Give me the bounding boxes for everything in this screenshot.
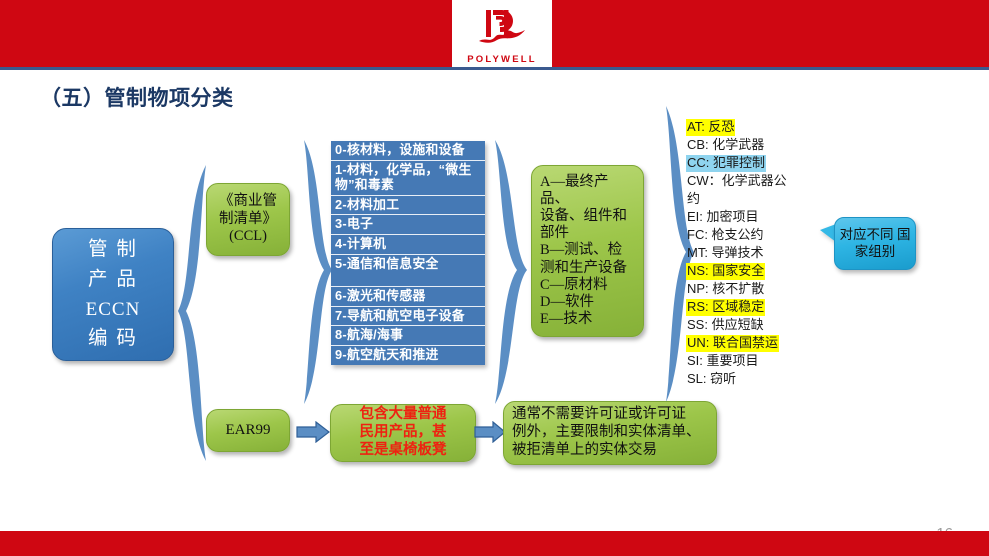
brand-wordmark: POLYWELL <box>467 54 537 65</box>
code-rs[interactable]: RS: 区域稳定 <box>686 299 765 316</box>
code-row: UN: 联合国禁运 <box>686 334 802 352</box>
eccn-main-box[interactable]: 管 制 产 品 ECCN 编 码 <box>52 228 174 361</box>
code-row: CC: 犯罪控制 <box>686 154 802 172</box>
code-np[interactable]: NP: 核不扩散 <box>686 281 765 298</box>
group-line-1: A—最终产品、 <box>540 174 635 208</box>
code-ei[interactable]: EI: 加密项目 <box>686 209 760 226</box>
code-row: AT: 反恐 <box>686 118 802 136</box>
ear99-box[interactable]: EAR99 <box>206 409 290 452</box>
group-line-6: C—原材料 <box>540 277 635 294</box>
note-line-3: 被拒清单上的实体交易 <box>512 442 657 460</box>
note-line-2: 例外，主要限制和实体清单、 <box>512 424 701 442</box>
group-line-2: 设备、组件和 <box>540 208 635 225</box>
arrow-right-icon-ear99 <box>296 421 330 443</box>
ear99-note-box[interactable]: 通常不需要许可证或许可证 例外，主要限制和实体清单、 被拒清单上的实体交易 <box>503 401 717 465</box>
code-row: CB: 化学武器 <box>686 136 802 154</box>
code-row: SS: 供应短缺 <box>686 316 802 334</box>
eccn-line-1: 管 制 <box>88 238 138 262</box>
ccl-line-2: 制清单》 <box>219 211 277 229</box>
country-group-callout[interactable]: 对应不同 国家组别 <box>834 217 916 270</box>
product-group-box[interactable]: A—最终产品、 设备、组件和 部件 B—测试、检 测和生产设备 C—原材料 D—… <box>531 165 644 337</box>
code-fc[interactable]: FC: 枪支公约 <box>686 227 765 244</box>
code-cc[interactable]: CC: 犯罪控制 <box>686 155 766 172</box>
reason-code-list: AT: 反恐 CB: 化学武器 CC: 犯罪控制 CW：化学武器公 约 EI: … <box>686 118 802 388</box>
code-at[interactable]: AT: 反恐 <box>686 119 735 136</box>
code-si[interactable]: SI: 重要项目 <box>686 353 760 370</box>
code-row: EI: 加密项目 <box>686 208 802 226</box>
brace-connector-ccl <box>292 138 334 406</box>
code-row: FC: 枪支公约 <box>686 226 802 244</box>
group-line-3: 部件 <box>540 225 635 242</box>
note-line-1: 通常不需要许可证或许可证 <box>512 406 686 424</box>
list-item[interactable]: 4-计算机 <box>331 234 485 254</box>
brand-logo: POLYWELL <box>452 0 552 76</box>
code-row: NS: 国家安全 <box>686 262 802 280</box>
ccl-category-list: 0-核材料，设施和设备 1-材料，化学品，“微生物”和毒素 2-材料加工 3-电… <box>331 141 485 365</box>
ccl-line-3: (CCL) <box>229 228 267 246</box>
page-title: （五）管制物项分类 <box>40 82 234 112</box>
list-item[interactable]: 1-材料，化学品，“微生物”和毒素 <box>331 160 485 195</box>
code-un[interactable]: UN: 联合国禁运 <box>686 335 779 352</box>
brace-connector-groups <box>483 138 529 406</box>
ccl-line-1: 《商业管 <box>219 193 277 211</box>
group-line-7: D—软件 <box>540 294 635 311</box>
eccn-line-4: 编 码 <box>88 327 138 351</box>
ear99-detail-line-1: 包含大量普通 <box>360 406 447 424</box>
list-item[interactable]: 2-材料加工 <box>331 195 485 215</box>
code-row: SI: 重要项目 <box>686 352 802 370</box>
code-cb[interactable]: CB: 化学武器 <box>686 137 765 154</box>
code-sl[interactable]: SL: 窃听 <box>686 371 737 388</box>
code-row: MT: 导弹技术 <box>686 244 802 262</box>
slide-canvas: POLYWELL （五）管制物项分类 管 制 产 品 ECCN 编 码 《商业管… <box>0 0 989 556</box>
code-row: RS: 区域稳定 <box>686 298 802 316</box>
eccn-line-2: 产 品 <box>88 268 138 292</box>
ccl-box[interactable]: 《商业管 制清单》 (CCL) <box>206 183 290 256</box>
list-item[interactable]: 0-核材料，设施和设备 <box>331 141 485 160</box>
ear99-detail-box[interactable]: 包含大量普通 民用产品，甚 至是桌椅板凳 <box>330 404 476 462</box>
code-row: 约 <box>686 190 802 208</box>
code-ns[interactable]: NS: 国家安全 <box>686 263 765 280</box>
callout-line-1: 对应不同 <box>840 227 894 242</box>
footer-band <box>0 531 989 556</box>
list-item[interactable]: 5-通信和信息安全 <box>331 254 485 274</box>
list-item[interactable]: 9-航空航天和推进 <box>331 345 485 365</box>
group-line-5: 测和生产设备 <box>540 260 635 277</box>
code-row: NP: 核不扩散 <box>686 280 802 298</box>
code-cw-cont: 约 <box>686 191 701 208</box>
list-item[interactable]: 8-航海/海事 <box>331 325 485 345</box>
code-mt[interactable]: MT: 导弹技术 <box>686 245 765 262</box>
arrow-right-icon-note <box>474 421 506 443</box>
code-row: SL: 窃听 <box>686 370 802 388</box>
code-cw[interactable]: CW：化学武器公 <box>686 173 788 190</box>
ear99-detail-line-2: 民用产品，甚 <box>360 424 447 442</box>
list-item[interactable]: 3-电子 <box>331 214 485 234</box>
header-rule <box>0 67 989 70</box>
ear99-detail-line-3: 至是桌椅板凳 <box>360 442 447 460</box>
polywell-logo-icon <box>474 5 530 53</box>
list-item-spacer <box>331 273 485 286</box>
group-line-8: E—技术 <box>540 311 635 328</box>
list-item[interactable]: 6-激光和传感器 <box>331 286 485 306</box>
code-row: CW：化学武器公 <box>686 172 802 190</box>
group-line-4: B—测试、检 <box>540 242 635 259</box>
ear99-label: EAR99 <box>226 421 271 439</box>
eccn-line-3: ECCN <box>86 298 141 321</box>
list-item[interactable]: 7-导航和航空电子设备 <box>331 306 485 326</box>
code-ss[interactable]: SS: 供应短缺 <box>686 317 765 334</box>
